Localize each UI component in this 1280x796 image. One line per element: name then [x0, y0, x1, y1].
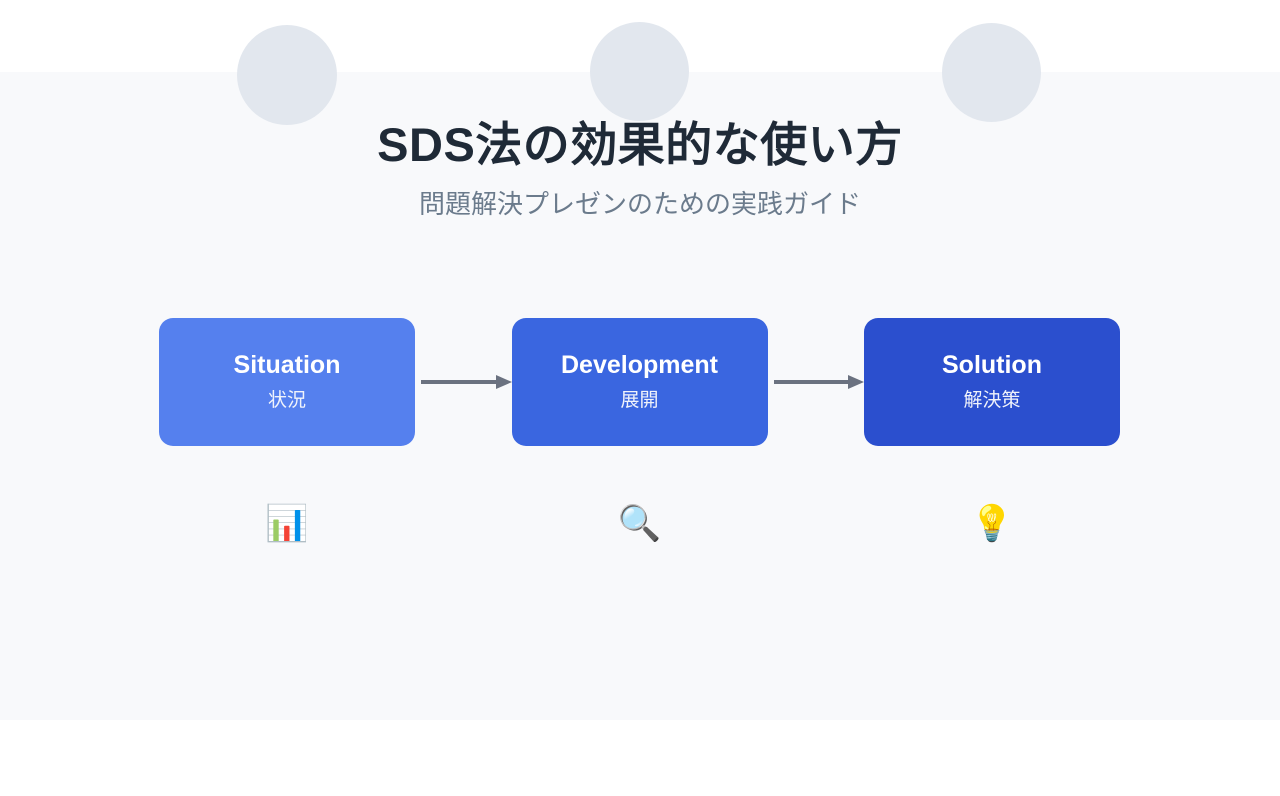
flow-step-development-title: Development	[561, 352, 718, 380]
flow-step-solution-title: Solution	[942, 352, 1042, 380]
flow-step-development-label-ja: 展開	[620, 391, 658, 412]
light-bulb-icon: 💡	[864, 498, 1120, 550]
flow-step-solution[interactable]: Solution 解決策	[864, 318, 1120, 446]
arrow-shaft	[421, 380, 498, 384]
flow-arrow-situation-to-development	[415, 375, 512, 389]
sds-flow-diagram: Situation 状況 Development 展開 Solution 解決策	[159, 318, 1120, 446]
flow-step-situation-label-ja: 状況	[268, 391, 306, 412]
page-title: SDS法の効果的な使い方	[0, 118, 1280, 172]
arrow-head-icon	[496, 375, 512, 389]
bar-chart-icon: 📊	[159, 498, 415, 550]
page-subtitle: 問題解決プレゼンのための実践ガイド	[0, 189, 1280, 220]
magnifying-glass-icon: 🔍	[512, 498, 768, 550]
flow-icon-row: 📊 🔍 💡	[159, 498, 1120, 550]
slide-root: SDS法の効果的な使い方 問題解決プレゼンのための実践ガイド Situation…	[0, 0, 1280, 796]
flow-step-solution-label-ja: 解決策	[963, 391, 1020, 412]
arrow-shaft	[774, 380, 851, 384]
arrow-head-icon	[848, 375, 864, 389]
flow-step-situation[interactable]: Situation 状況	[159, 318, 415, 446]
flow-arrow-development-to-solution	[768, 375, 865, 389]
slide-header: SDS法の効果的な使い方 問題解決プレゼンのための実践ガイド	[0, 118, 1280, 220]
flow-step-development[interactable]: Development 展開	[512, 318, 768, 446]
flow-step-situation-title: Situation	[234, 352, 341, 380]
